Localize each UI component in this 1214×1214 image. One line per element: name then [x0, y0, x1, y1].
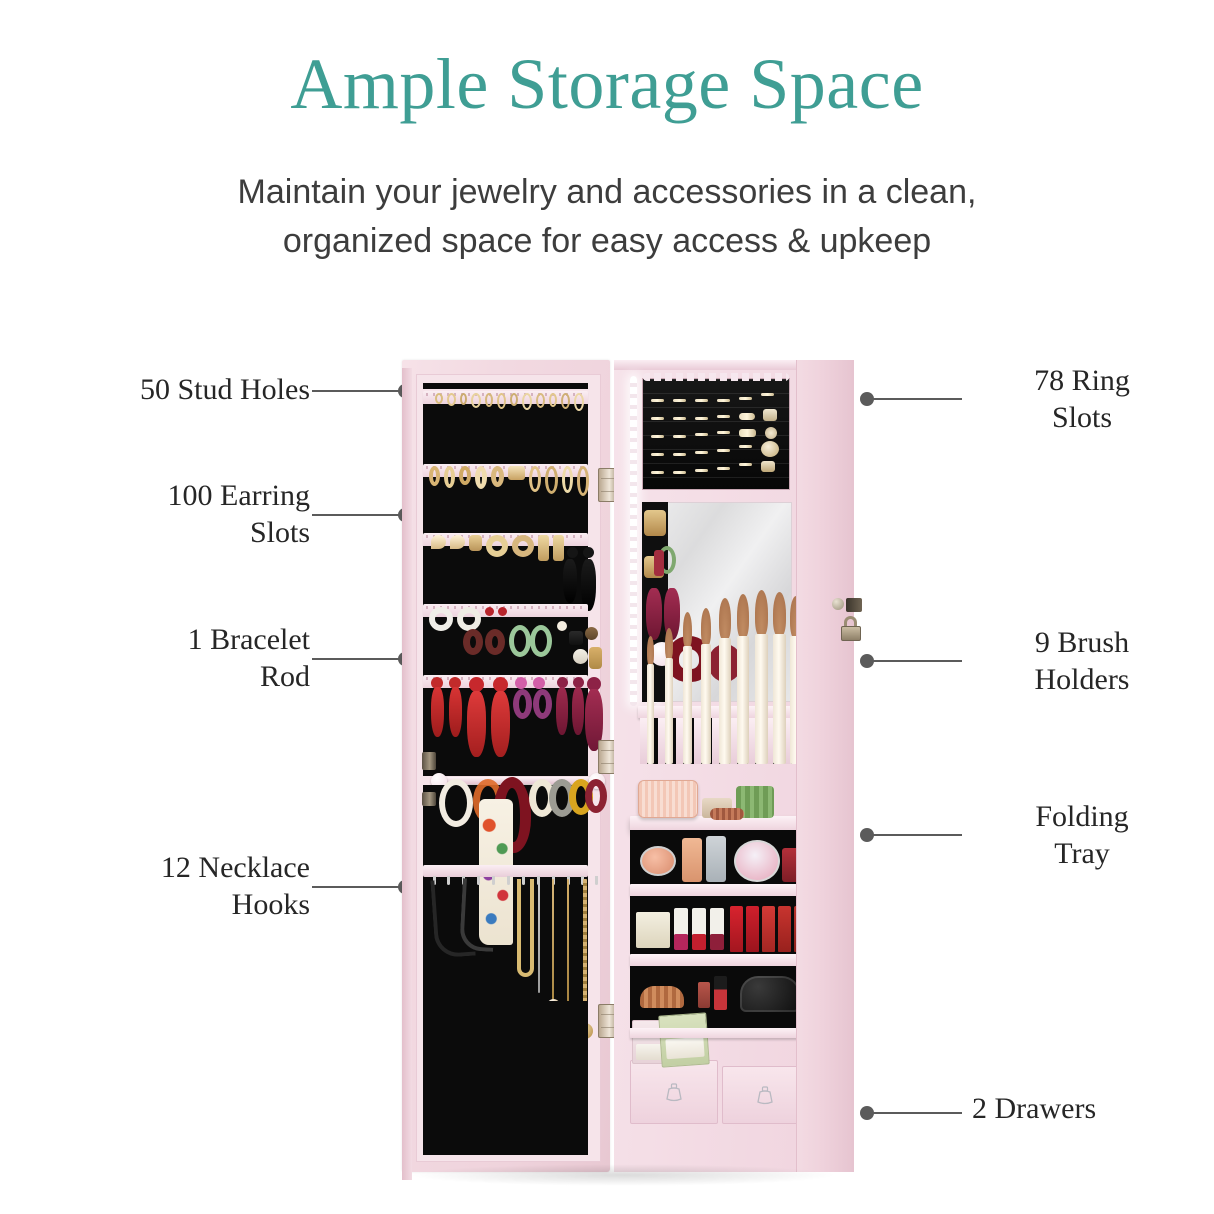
velvet-panel-7: [423, 1001, 588, 1155]
lipstick-4: [778, 906, 791, 952]
black-stud-2: [583, 547, 594, 558]
black-tassel-1: [563, 559, 577, 603]
callout-necklace-hooks-line1: 12 Necklace: [40, 850, 310, 887]
callout-stud-holes-line1: 50 Stud Holes: [40, 372, 310, 409]
callout-earring-slots: 100 Earring Slots: [40, 478, 310, 551]
black-stud-1: [567, 547, 578, 558]
callout-earring-slots-line2: Slots: [40, 515, 310, 552]
callout-ring-slots: 78 Ring Slots: [972, 363, 1192, 436]
pearl-bracelet: [439, 779, 473, 827]
brush-slot-divider-1: [640, 718, 647, 764]
leader-line-ring-slots: [870, 398, 962, 400]
earring-group-1: [429, 466, 589, 496]
makeup-brush-5: [719, 598, 731, 764]
leader-line-drawers: [870, 1112, 962, 1114]
leader-line-earring-slots: [312, 514, 404, 516]
makeup-brush-1: [647, 636, 654, 764]
green-hoop-2: [530, 625, 552, 657]
subtitle-line-1: Maintain your jewelry and accessories in…: [127, 168, 1087, 217]
makeup-brush-6: [737, 594, 749, 764]
earring-group-2: [431, 535, 581, 561]
makeup-brush-7: [755, 590, 768, 764]
callout-ring-slots-line1: 78 Ring: [972, 363, 1192, 400]
product-shadow: [408, 1164, 838, 1186]
red-tassel-3: [467, 691, 486, 757]
key-ring: [832, 598, 844, 610]
green-hoop-1: [509, 625, 531, 657]
leader-line-folding-tray: [870, 834, 962, 836]
purple-hoop-2: [533, 689, 552, 719]
polish-bottle-4: [698, 982, 710, 1008]
bronzer-bottle: [682, 838, 702, 882]
polish-cap-2: [692, 908, 706, 936]
polish-bottle-3: [710, 934, 724, 950]
lipstick-3: [762, 906, 775, 952]
grey-bottle: [706, 836, 726, 882]
reflected-earrings-1: [644, 510, 666, 536]
shelf-board-1: [630, 884, 806, 896]
shell-earring: [573, 649, 588, 664]
brush-slot-divider-4: [694, 718, 701, 764]
makeup-brush-4: [701, 608, 711, 764]
maroon-tassel-2: [572, 687, 584, 735]
necklace-chain-1: [490, 879, 512, 991]
brown-hoop-1: [463, 629, 483, 655]
page-subtitle: Maintain your jewelry and accessories in…: [127, 168, 1087, 267]
callout-necklace-hooks: 12 Necklace Hooks: [40, 850, 310, 923]
callout-folding-tray-line2: Tray: [972, 836, 1192, 873]
infographic-page: Ample Storage Space Maintain your jewelr…: [0, 0, 1214, 1214]
brush-slot-divider-3: [676, 718, 683, 764]
drawer-right-closed[interactable]: [722, 1066, 806, 1124]
callout-brush-holders: 9 Brush Holders: [972, 625, 1192, 698]
callout-earring-slots-line1: 100 Earring: [40, 478, 310, 515]
ring-slot-panel[interactable]: [642, 378, 790, 490]
lock-body: [841, 626, 861, 641]
door-latch-plate-2: [422, 792, 436, 806]
necklace-chain-2: [517, 879, 534, 977]
red-tassel-2: [449, 687, 462, 737]
makeup-brush-8: [773, 592, 786, 764]
eyeshadow-palette: [734, 840, 780, 882]
lock-and-hasp[interactable]: [834, 614, 874, 654]
pearl-stud: [557, 621, 567, 631]
callout-brush-holders-line2: Holders: [972, 662, 1192, 699]
polish-bottle-1: [674, 934, 688, 950]
pink-bead-2: [533, 677, 545, 689]
hasp-plate: [846, 598, 862, 612]
callout-folding-tray: Folding Tray: [972, 799, 1192, 872]
reflected-red-drop: [654, 550, 664, 576]
gift-box: [636, 912, 670, 948]
led-light-strip-left: [630, 376, 637, 706]
drawer-pull-right[interactable]: [756, 1086, 774, 1106]
red-scrunchie: [585, 779, 607, 813]
cabinet-right-side-panel: [796, 360, 854, 1172]
shelf-board-2: [630, 954, 806, 966]
leader-line-bracelet-rod: [312, 658, 404, 660]
red-tassel-4: [491, 691, 510, 757]
reflected-tassel-1: [646, 588, 662, 640]
callout-ring-slots-line2: Slots: [972, 400, 1192, 437]
necklace-hook-12[interactable]: [595, 876, 598, 885]
polish-cap-1: [674, 908, 688, 936]
drawer-pull-left[interactable]: [665, 1083, 683, 1103]
eyelash-window-2: [665, 1037, 704, 1060]
logo-earring: [569, 631, 583, 645]
stud-earrings-group: [435, 393, 585, 411]
page-title: Ample Storage Space: [0, 48, 1214, 120]
makeup-brush-2: [665, 628, 673, 764]
leader-line-stud-holes: [312, 390, 404, 392]
brush-slot-divider-5: [712, 718, 719, 764]
door-inner-panel: [416, 374, 601, 1162]
cabinet-body: [614, 360, 854, 1172]
maroon-tassel-1: [556, 687, 568, 735]
purple-hoop-1: [513, 689, 532, 719]
drawer-left-open[interactable]: [630, 1060, 718, 1124]
lipstick-2: [746, 906, 759, 952]
shelf-board-3: [630, 1028, 806, 1038]
subtitle-line-2: organized space for easy access & upkeep: [127, 217, 1087, 266]
brush-slot-divider-7: [748, 718, 755, 764]
necklace-chain-3: [538, 879, 540, 993]
cabinet-left-door[interactable]: [402, 360, 610, 1172]
callout-drawers: 2 Drawers: [972, 1091, 1202, 1128]
cabinet-top-edge: [614, 360, 796, 370]
brush-slot-divider-2: [658, 718, 665, 764]
callout-bracelet-rod-line2: Rod: [40, 659, 310, 696]
brown-hoop-2: [485, 629, 505, 655]
red-tassel-1: [431, 687, 444, 737]
pink-bead-1: [515, 677, 527, 689]
red-bead-3: [469, 677, 484, 692]
callout-folding-tray-line1: Folding: [972, 799, 1192, 836]
product-image-jewelry-armoire: [398, 352, 868, 1180]
brush-slot-divider-6: [730, 718, 737, 764]
leader-line-necklace-hooks: [312, 886, 404, 888]
makeup-brush-3: [683, 612, 692, 764]
necklace-chain-5: [567, 879, 569, 1019]
necklace-chain-4: [552, 879, 554, 1003]
callout-stud-holes: 50 Stud Holes: [40, 372, 310, 409]
wood-earring: [585, 627, 598, 640]
cosmetic-case: [638, 780, 698, 818]
red-bead-4: [493, 677, 508, 692]
callout-bracelet-rod-line1: 1 Bracelet: [40, 622, 310, 659]
gold-drop-earring: [589, 647, 602, 669]
polish-cap-3: [710, 908, 724, 936]
callout-bracelet-rod: 1 Bracelet Rod: [40, 622, 310, 695]
door-latch-plate: [422, 752, 436, 770]
beaded-clutch: [740, 976, 800, 1012]
callout-drawers-line1: 2 Drawers: [972, 1091, 1202, 1128]
leader-line-brush-holders: [870, 660, 962, 662]
lipstick-1: [730, 906, 743, 952]
lock-shackle: [844, 616, 857, 626]
elf-compact: [640, 846, 676, 876]
polish-bottle-2: [692, 934, 706, 950]
hair-comb-2: [640, 986, 684, 1008]
door-outer-edge: [402, 368, 412, 1180]
callout-brush-holders-line1: 9 Brush: [972, 625, 1192, 662]
hair-comb: [710, 808, 744, 820]
door-top-trim: [423, 383, 588, 389]
callout-necklace-hooks-line2: Hooks: [40, 887, 310, 924]
polish-bottle-5: [714, 976, 727, 1010]
velvet-panel-1: [423, 404, 588, 466]
cabinet-interior: [614, 360, 796, 1172]
